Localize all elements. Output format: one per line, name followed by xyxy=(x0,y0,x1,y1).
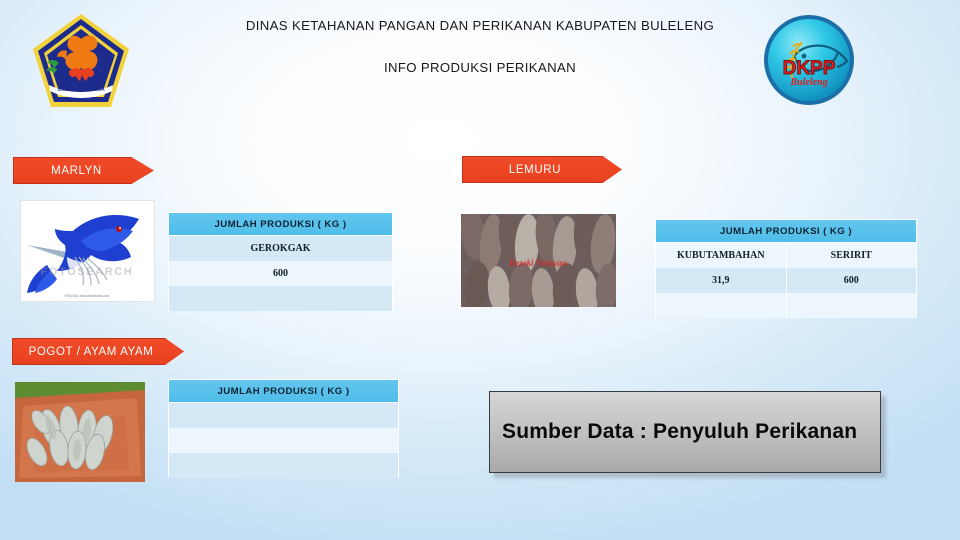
section-banner-lemuru[interactable]: LEMURU xyxy=(462,156,622,183)
table-row: KUBUTAMBAHAN SERIRIT xyxy=(655,243,917,268)
lemuru-fish-catch-image: Rezeki Nelayan xyxy=(461,214,616,307)
dkpp-buleleng-logo: DKPP Buleleng xyxy=(760,12,858,108)
table-pogot-header: JUMLAH PRODUKSI ( KG ) xyxy=(168,379,399,403)
table-row xyxy=(655,293,917,318)
dkpp-logo-text: DKPP xyxy=(783,58,836,79)
table-pogot: JUMLAH PRODUKSI ( KG ) xyxy=(168,379,399,478)
table-cell: SERIRIT xyxy=(787,243,917,268)
header-line-1: DINAS KETAHANAN PANGAN DAN PERIKANAN KAB… xyxy=(160,18,800,34)
table-cell: 600 xyxy=(787,268,917,293)
table-row xyxy=(168,286,393,311)
table-cell: GEROKGAK xyxy=(169,236,392,261)
table-cell xyxy=(787,293,917,318)
source-data-label: Sumber Data : Penyuluh Perikanan xyxy=(502,420,857,444)
section-banner-lemuru-label: LEMURU xyxy=(509,164,561,176)
table-cell xyxy=(169,403,398,428)
table-row xyxy=(168,428,399,453)
section-banner-marlyn-label: MARLYN xyxy=(51,165,102,177)
section-banner-marlyn[interactable]: MARLYN xyxy=(13,157,154,184)
table-cell xyxy=(169,286,392,311)
table-row: 600 xyxy=(168,261,393,286)
header-line-2: INFO PRODUKSI PERIKANAN xyxy=(160,60,800,75)
table-cell: KUBUTAMBAHAN xyxy=(656,243,787,268)
table-cell xyxy=(656,293,787,318)
table-row: 31,9 600 xyxy=(655,268,917,293)
table-lemuru: JUMLAH PRODUKSI ( KG ) KUBUTAMBAHAN SERI… xyxy=(655,219,917,318)
table-row: GEROKGAK xyxy=(168,236,393,261)
table-cell: 31,9 xyxy=(656,268,787,293)
section-banner-pogot[interactable]: POGOT / AYAM AYAM xyxy=(12,338,184,365)
table-cell xyxy=(169,428,398,453)
source-data-box: Sumber Data : Penyuluh Perikanan xyxy=(489,391,881,473)
marlin-credit-text: K9101611 www.fotosearch.com xyxy=(65,294,110,298)
marlin-illustration-image: FOTOSEARCH K9101611 www.fotosearch.com xyxy=(20,200,155,302)
crest-motto-text: SINGA AMBARA RAJA xyxy=(57,87,105,92)
table-lemuru-header: JUMLAH PRODUKSI ( KG ) xyxy=(655,219,917,243)
page-title: DINAS KETAHANAN PANGAN DAN PERIKANAN KAB… xyxy=(160,18,800,75)
pogot-fish-catch-image xyxy=(15,382,145,482)
table-cell: 600 xyxy=(169,261,392,286)
table-marlyn-header: JUMLAH PRODUKSI ( KG ) xyxy=(168,212,393,236)
dkpp-logo-subtext: Buleleng xyxy=(789,77,827,88)
lemuru-watermark-text: Rezeki Nelayan xyxy=(508,258,567,268)
buleleng-regency-crest-logo: SINGA AMBARA RAJA xyxy=(29,11,133,111)
section-banner-pogot-label: POGOT / AYAM AYAM xyxy=(29,346,154,358)
table-cell xyxy=(169,453,398,478)
table-row xyxy=(168,403,399,428)
slide-canvas: SINGA AMBARA RAJA DINAS KETAHANAN PANGAN… xyxy=(0,0,960,540)
marlin-watermark-text: FOTOSEARCH xyxy=(41,266,134,278)
table-marlyn: JUMLAH PRODUKSI ( KG ) GEROKGAK 600 xyxy=(168,212,393,311)
table-row xyxy=(168,453,399,478)
